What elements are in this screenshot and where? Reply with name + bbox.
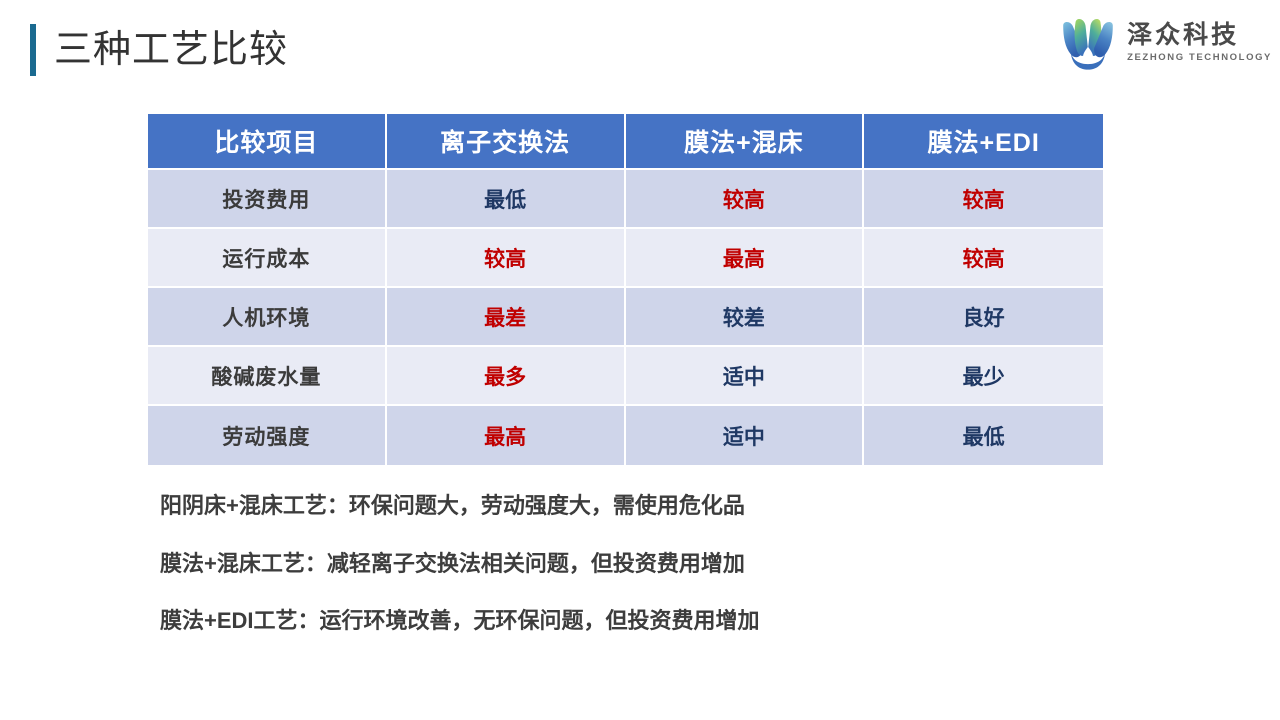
column-header-membrane-mixbed: 膜法+混床 bbox=[626, 114, 865, 170]
table-cell: 最高 bbox=[626, 229, 865, 288]
table-cell: 最高 bbox=[387, 406, 626, 465]
table-cell: 最多 bbox=[387, 347, 626, 406]
table-header-row: 比较项目 离子交换法 膜法+混床 膜法+EDI bbox=[148, 114, 1103, 170]
table-cell: 最低 bbox=[864, 406, 1103, 465]
summary-notes: 阳阴床+混床工艺：环保问题大，劳动强度大，需使用危化品 膜法+混床工艺：减轻离子… bbox=[160, 492, 1160, 635]
table-cell: 适中 bbox=[626, 347, 865, 406]
comparison-table: 比较项目 离子交换法 膜法+混床 膜法+EDI 投资费用 最低 较高 较高 运行… bbox=[148, 114, 1103, 465]
column-header-ion-exchange: 离子交换法 bbox=[387, 114, 626, 170]
table-cell: 较差 bbox=[626, 288, 865, 347]
row-label: 酸碱废水量 bbox=[148, 347, 387, 406]
table-cell: 最差 bbox=[387, 288, 626, 347]
slide: 三种工艺比较 bbox=[0, 0, 1280, 720]
comparison-table-wrapper: 比较项目 离子交换法 膜法+混床 膜法+EDI 投资费用 最低 较高 较高 运行… bbox=[148, 114, 1103, 465]
table-cell: 最少 bbox=[864, 347, 1103, 406]
company-logo: 泽众科技 ZEZHONG TECHNOLOGY bbox=[1057, 12, 1272, 74]
table-cell: 较高 bbox=[864, 229, 1103, 288]
page-title: 三种工艺比较 bbox=[30, 24, 288, 76]
table-row: 人机环境 最差 较差 良好 bbox=[148, 288, 1103, 347]
column-header-item: 比较项目 bbox=[148, 114, 387, 170]
table-cell: 良好 bbox=[864, 288, 1103, 347]
summary-note-line: 膜法+混床工艺：减轻离子交换法相关问题，但投资费用增加 bbox=[160, 550, 1160, 578]
page-title-text: 三种工艺比较 bbox=[54, 31, 288, 69]
table-cell: 较高 bbox=[864, 170, 1103, 229]
table-header: 比较项目 离子交换法 膜法+混床 膜法+EDI bbox=[148, 114, 1103, 170]
table-body: 投资费用 最低 较高 较高 运行成本 较高 最高 较高 人机环境 最差 较差 良… bbox=[148, 170, 1103, 465]
row-label: 人机环境 bbox=[148, 288, 387, 347]
row-label: 投资费用 bbox=[148, 170, 387, 229]
column-header-membrane-edi: 膜法+EDI bbox=[864, 114, 1103, 170]
logo-name-cn: 泽众科技 bbox=[1127, 22, 1272, 50]
table-cell: 适中 bbox=[626, 406, 865, 465]
table-row: 劳动强度 最高 适中 最低 bbox=[148, 406, 1103, 465]
table-cell: 较高 bbox=[387, 229, 626, 288]
table-row: 投资费用 最低 较高 较高 bbox=[148, 170, 1103, 229]
table-row: 酸碱废水量 最多 适中 最少 bbox=[148, 347, 1103, 406]
logo-wordmark: 泽众科技 ZEZHONG TECHNOLOGY bbox=[1127, 22, 1272, 64]
table-row: 运行成本 较高 最高 较高 bbox=[148, 229, 1103, 288]
summary-note-line: 阳阴床+混床工艺：环保问题大，劳动强度大，需使用危化品 bbox=[160, 492, 1160, 520]
table-cell: 较高 bbox=[626, 170, 865, 229]
row-label: 运行成本 bbox=[148, 229, 387, 288]
title-accent-bar bbox=[30, 24, 36, 76]
leaf-droplet-icon bbox=[1057, 12, 1119, 74]
table-cell: 最低 bbox=[387, 170, 626, 229]
summary-note-line: 膜法+EDI工艺：运行环境改善，无环保问题，但投资费用增加 bbox=[160, 607, 1160, 635]
logo-name-en: ZEZHONG TECHNOLOGY bbox=[1127, 52, 1272, 64]
row-label: 劳动强度 bbox=[148, 406, 387, 465]
